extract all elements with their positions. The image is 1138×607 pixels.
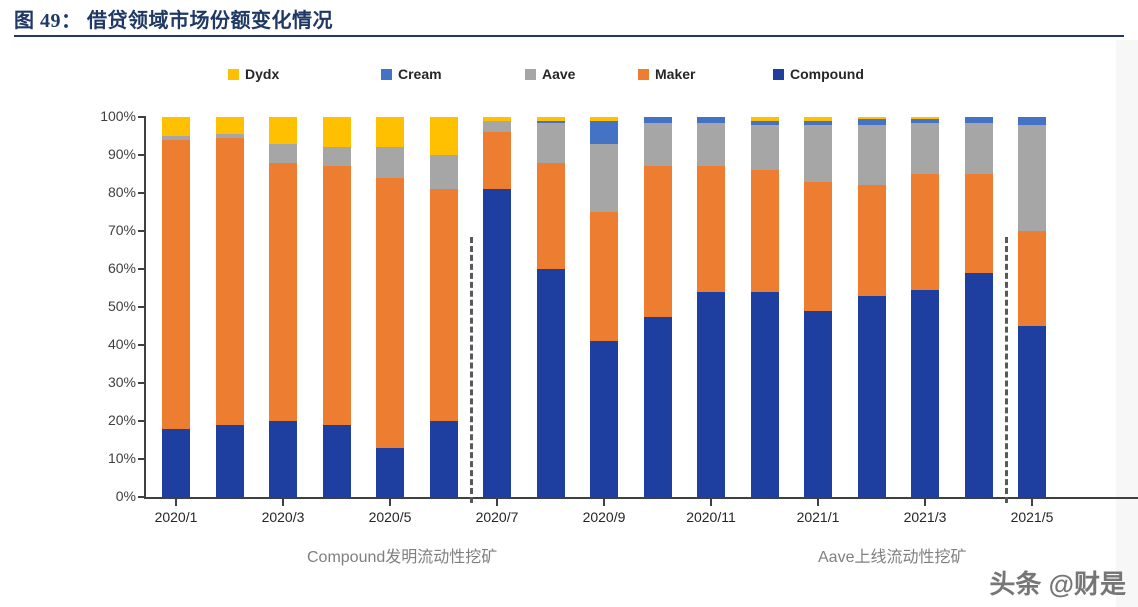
bar-segment-dydx: [858, 117, 886, 119]
bar-segment-maker: [269, 163, 297, 421]
bar-segment-compound: [1018, 326, 1046, 497]
legend-label-compound: Compound: [790, 66, 864, 82]
bar-segment-aave: [858, 125, 886, 186]
y-tick-mark: [138, 496, 145, 498]
bar-segment-compound: [804, 311, 832, 497]
title-divider: [14, 35, 1124, 37]
bar-stack[interactable]: [697, 117, 725, 497]
y-axis-tick-label: 90%: [108, 146, 136, 162]
bar-segment-dydx: [269, 117, 297, 144]
legend-label-dydx: Dydx: [245, 66, 279, 82]
bar-segment-aave: [751, 125, 779, 171]
bar-segment-dydx: [590, 117, 618, 121]
x-axis-line: [144, 497, 1138, 499]
y-tick-mark: [138, 306, 145, 308]
bar-segment-aave: [1018, 125, 1046, 231]
bar-segment-maker: [216, 138, 244, 425]
legend-swatch-maker-icon: [638, 69, 649, 80]
legend-swatch-aave-icon: [525, 69, 536, 80]
bar-stack[interactable]: [858, 117, 886, 497]
bar-segment-cream: [751, 121, 779, 125]
legend-item-aave[interactable]: Aave: [525, 64, 575, 84]
bar-segment-maker: [162, 140, 190, 429]
x-tick-mark: [282, 499, 284, 506]
y-tick-mark: [138, 268, 145, 270]
compound-mining-event-line: [470, 237, 473, 503]
bar-segment-cream: [1018, 117, 1046, 125]
bar-stack[interactable]: [430, 117, 458, 497]
bar-segment-maker: [965, 174, 993, 273]
bar-stack[interactable]: [644, 117, 672, 497]
bar-segment-dydx: [751, 117, 779, 121]
x-tick-mark: [817, 499, 819, 506]
x-axis-tick-label: 2020/5: [345, 509, 435, 525]
bar-segment-compound: [430, 421, 458, 497]
bar-segment-cream: [965, 117, 993, 123]
y-axis-tick-label: 100%: [100, 108, 136, 124]
bar-segment-maker: [697, 166, 725, 291]
bar-segment-compound: [751, 292, 779, 497]
bar-stack[interactable]: [1018, 117, 1046, 497]
bar-segment-dydx: [162, 117, 190, 136]
x-tick-mark: [496, 499, 498, 506]
bar-segment-cream: [697, 117, 725, 123]
bar-stack[interactable]: [323, 117, 351, 497]
y-axis-tick-label: 40%: [108, 336, 136, 352]
y-axis-tick-label: 50%: [108, 298, 136, 314]
legend-label-maker: Maker: [655, 66, 695, 82]
bar-segment-dydx: [216, 117, 244, 134]
bar-stack[interactable]: [537, 117, 565, 497]
bar-stack[interactable]: [804, 117, 832, 497]
legend-swatch-compound-icon: [773, 69, 784, 80]
bar-segment-dydx: [430, 117, 458, 155]
bar-stack[interactable]: [965, 117, 993, 497]
bar-stack[interactable]: [911, 117, 939, 497]
bar-segment-cream: [644, 117, 672, 123]
bar-segment-aave: [537, 123, 565, 163]
bar-segment-compound: [483, 189, 511, 497]
bar-segment-aave: [430, 155, 458, 189]
bar-segment-dydx: [323, 117, 351, 147]
bar-segment-aave: [697, 123, 725, 167]
x-tick-mark: [389, 499, 391, 506]
bar-segment-maker: [483, 132, 511, 189]
x-tick-mark: [924, 499, 926, 506]
bar-segment-maker: [751, 170, 779, 292]
bar-segment-maker: [644, 166, 672, 316]
bar-segment-compound: [269, 421, 297, 497]
bar-segment-cream: [911, 119, 939, 123]
x-axis-tick-label: 2021/1: [773, 509, 863, 525]
y-axis-tick-label: 30%: [108, 374, 136, 390]
bar-segment-maker: [1018, 231, 1046, 326]
y-tick-mark: [138, 154, 145, 156]
bar-segment-compound: [858, 296, 886, 497]
legend-label-cream: Cream: [398, 66, 442, 82]
bar-segment-dydx: [376, 117, 404, 147]
legend-label-aave: Aave: [542, 66, 575, 82]
bar-segment-aave: [911, 123, 939, 174]
bar-segment-maker: [376, 178, 404, 448]
x-axis-tick-label: 2020/9: [559, 509, 649, 525]
bar-segment-maker: [590, 212, 618, 341]
x-tick-mark: [710, 499, 712, 506]
bar-segment-maker: [804, 182, 832, 311]
y-tick-mark: [138, 420, 145, 422]
bar-segment-compound: [965, 273, 993, 497]
y-axis-tick-label: 70%: [108, 222, 136, 238]
bar-segment-compound: [162, 429, 190, 497]
bar-stack[interactable]: [162, 117, 190, 497]
bar-segment-cream: [858, 119, 886, 125]
bar-segment-maker: [911, 174, 939, 290]
bar-stack[interactable]: [483, 117, 511, 497]
bar-segment-dydx: [911, 117, 939, 119]
bar-segment-dydx: [537, 117, 565, 121]
bar-segment-compound: [537, 269, 565, 497]
bar-segment-compound: [911, 290, 939, 497]
y-axis-tick-label: 80%: [108, 184, 136, 200]
page-title: 图 49： 借贷领域市场份额变化情况: [14, 4, 333, 33]
legend-swatch-dydx-icon: [228, 69, 239, 80]
bar-segment-maker: [430, 189, 458, 421]
x-axis-tick-label: 2020/7: [452, 509, 542, 525]
y-axis-tick-label: 0%: [116, 488, 136, 504]
y-tick-mark: [138, 344, 145, 346]
legend-swatch-cream-icon: [381, 69, 392, 80]
x-axis-tick-label: 2020/1: [131, 509, 221, 525]
bar-segment-compound: [590, 341, 618, 497]
bar-segment-cream: [537, 121, 565, 123]
legend-item-dydx[interactable]: Dydx: [228, 64, 279, 84]
bar-segment-aave: [376, 147, 404, 177]
bar-segment-maker: [858, 185, 886, 295]
y-axis-tick-label: 10%: [108, 450, 136, 466]
bar-segment-aave: [483, 121, 511, 132]
figure-title-bar: 图 49： 借贷领域市场份额变化情况: [0, 0, 1138, 40]
bar-segment-cream: [590, 121, 618, 144]
bar-segment-aave: [216, 134, 244, 138]
bar-segment-compound: [644, 317, 672, 498]
bar-segment-compound: [323, 425, 351, 497]
legend-item-maker[interactable]: Maker: [638, 64, 695, 84]
bar-segment-aave: [644, 123, 672, 167]
bar-stack[interactable]: [751, 117, 779, 497]
bar-segment-aave: [965, 123, 993, 174]
chart-legend: DydxCreamAaveMakerCompound: [228, 64, 928, 88]
bar-segment-aave: [590, 144, 618, 212]
bar-stack[interactable]: [216, 117, 244, 497]
watermark: 头条 @财是: [989, 564, 1126, 601]
bar-segment-aave: [804, 125, 832, 182]
page-right-margin: [1116, 40, 1138, 607]
y-axis-tick-label: 20%: [108, 412, 136, 428]
x-axis-tick-label: 2021/5: [987, 509, 1077, 525]
bar-segment-compound: [697, 292, 725, 497]
y-tick-mark: [138, 382, 145, 384]
bar-segment-maker: [323, 166, 351, 424]
x-axis-tick-label: 2020/11: [666, 509, 756, 525]
legend-item-cream[interactable]: Cream: [381, 64, 442, 84]
bar-stack[interactable]: [376, 117, 404, 497]
bar-segment-compound: [376, 448, 404, 497]
y-tick-mark: [138, 192, 145, 194]
y-tick-mark: [138, 116, 145, 118]
bar-segment-maker: [537, 163, 565, 269]
aave-mining-event-line: [1005, 237, 1008, 503]
bar-segment-dydx: [483, 117, 511, 121]
x-axis-tick-label: 2021/3: [880, 509, 970, 525]
bar-stack[interactable]: [269, 117, 297, 497]
x-tick-mark: [603, 499, 605, 506]
bar-segment-aave: [162, 136, 190, 140]
bar-segment-compound: [216, 425, 244, 497]
y-tick-mark: [138, 230, 145, 232]
bar-segment-aave: [323, 147, 351, 166]
bar-segment-dydx: [804, 117, 832, 121]
y-tick-mark: [138, 458, 145, 460]
y-axis-tick-label: 60%: [108, 260, 136, 276]
x-tick-mark: [175, 499, 177, 506]
bar-segment-cream: [804, 121, 832, 125]
x-tick-mark: [1031, 499, 1033, 506]
bar-stack[interactable]: [590, 117, 618, 497]
bar-segment-aave: [269, 144, 297, 163]
aave-mining-event-label: Aave上线流动性挖矿: [818, 543, 966, 567]
legend-item-compound[interactable]: Compound: [773, 64, 864, 84]
x-axis-tick-label: 2020/3: [238, 509, 328, 525]
compound-mining-event-label: Compound发明流动性挖矿: [307, 543, 497, 567]
